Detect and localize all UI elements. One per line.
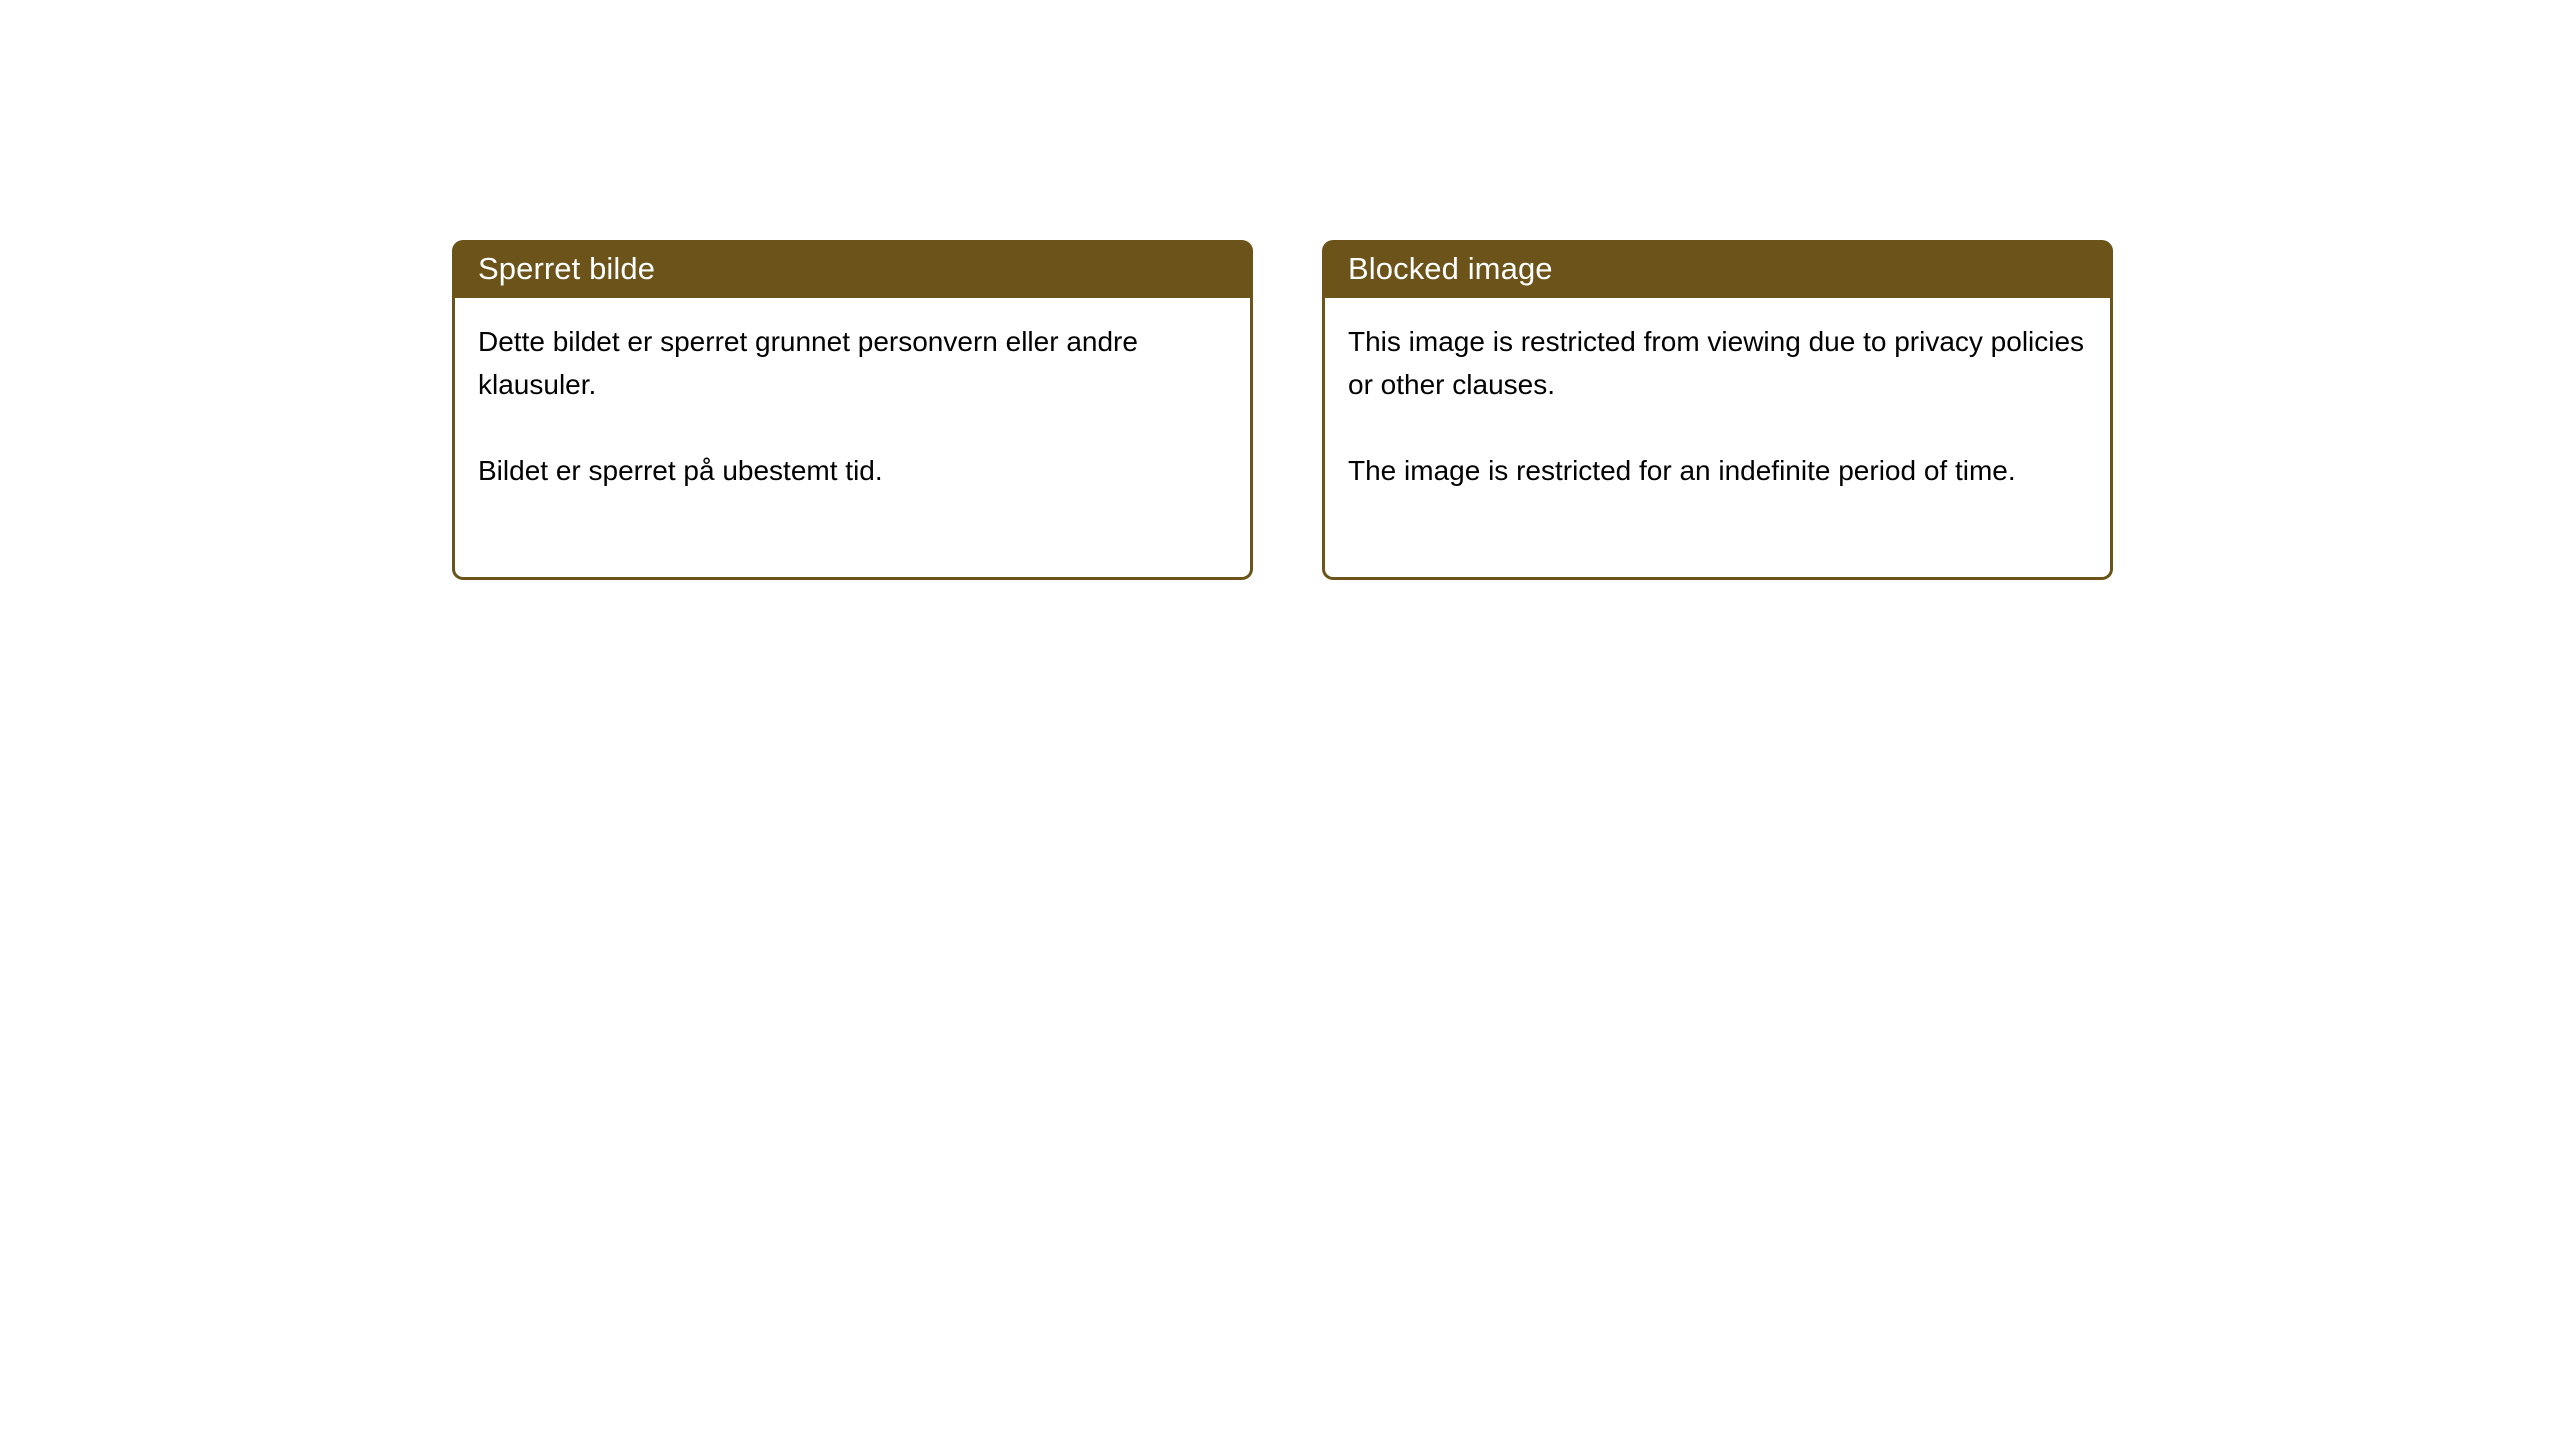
panel-paragraph-duration-norwegian: Bildet er sperret på ubestemt tid.: [478, 449, 1226, 492]
panel-body-english: This image is restricted from viewing du…: [1322, 298, 2113, 580]
panel-header-norwegian: Sperret bilde: [452, 240, 1253, 298]
page-root: Sperret bilde Dette bildet er sperret gr…: [0, 0, 2560, 1440]
panel-paragraph-duration-english: The image is restricted for an indefinit…: [1348, 449, 2086, 492]
blocked-image-notice-norwegian: Sperret bilde Dette bildet er sperret gr…: [452, 240, 1253, 580]
panel-title-english: Blocked image: [1348, 252, 1553, 286]
blocked-image-notice-english: Blocked image This image is restricted f…: [1322, 240, 2113, 580]
panel-header-english: Blocked image: [1322, 240, 2113, 298]
panel-body-norwegian: Dette bildet er sperret grunnet personve…: [452, 298, 1253, 580]
panel-paragraph-reason-english: This image is restricted from viewing du…: [1348, 320, 2086, 406]
panel-paragraph-reason-norwegian: Dette bildet er sperret grunnet personve…: [478, 320, 1226, 406]
panel-title-norwegian: Sperret bilde: [478, 252, 655, 286]
